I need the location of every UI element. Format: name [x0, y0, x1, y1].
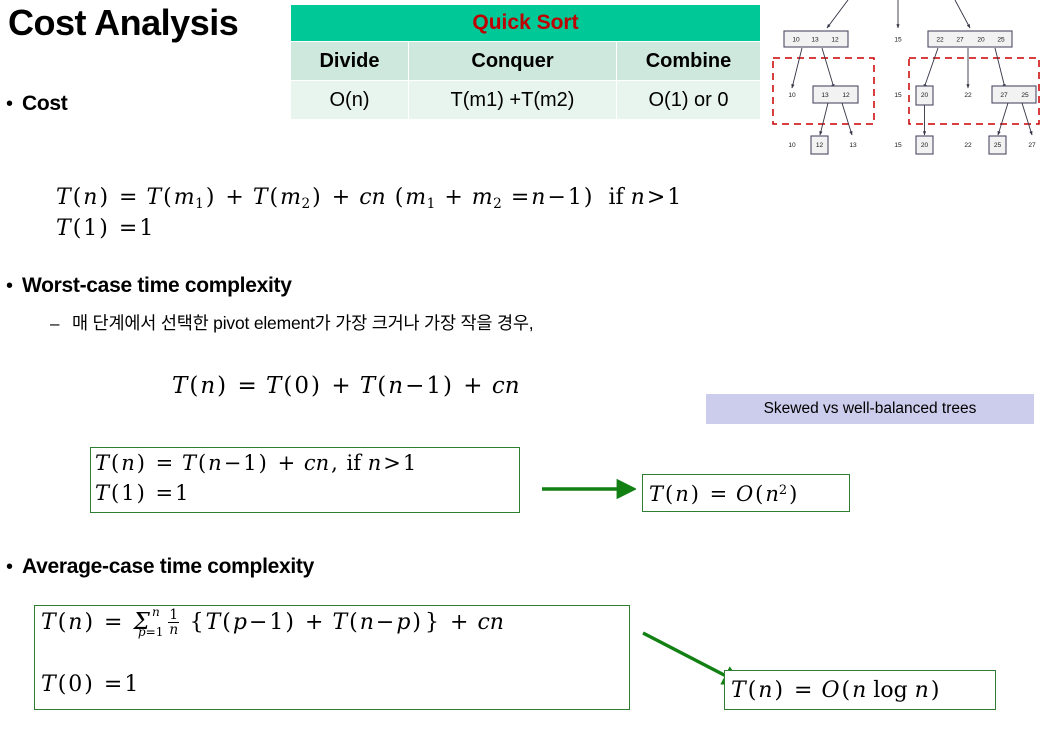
- table-header-divide: Divide: [291, 42, 409, 81]
- table-header-conquer: Conquer: [409, 42, 617, 81]
- tree-edges-root: [827, 0, 970, 28]
- tree-leaf-level2-mid: 15: [894, 92, 902, 99]
- summation-symbol: Σ n p=1: [131, 609, 159, 635]
- tree-leaf-l3-22: 22: [964, 142, 972, 149]
- tree-leaf-level2-left: 10: [788, 92, 796, 99]
- equation-box-worst-result: T(n) = O(n2): [642, 474, 850, 512]
- svg-text:27: 27: [956, 36, 964, 43]
- table-row-title: Quick Sort: [291, 5, 761, 42]
- equation-average-system-line2: T(0) =1: [41, 672, 623, 697]
- table-row-headers: Divide Conquer Combine: [291, 42, 761, 81]
- svg-text:13: 13: [821, 92, 829, 99]
- table-title-cell: Quick Sort: [291, 5, 761, 42]
- tree-node-l3-12: 12: [811, 136, 828, 154]
- quicksort-summary-table: Quick Sort Divide Conquer Combine O(n) T…: [290, 4, 761, 120]
- table-header-combine: Combine: [617, 42, 761, 81]
- equation-worst-system-line1: T(n) = T(n−1) + cn, if n>1: [95, 449, 515, 479]
- equation-box-average-system: T(n) = Σ n p=1 1 n {T(p−1) + T(n−p)} + c…: [34, 605, 630, 710]
- bullet-cost-label: Cost: [22, 92, 67, 116]
- quicksort-recursion-tree-diagram: 10 13 12 15 22 27 20 25 10 13 12 15 20 2…: [770, 0, 1042, 170]
- bullet-dot-icon: •: [6, 557, 22, 577]
- svg-text:20: 20: [977, 36, 985, 43]
- svg-text:25: 25: [994, 142, 1002, 149]
- equation-box-average-result: T(n) = O(n log n): [724, 670, 996, 710]
- tree-leaf-l3-27: 27: [1028, 142, 1036, 149]
- table-row: O(n) T(m1) +T(m2) O(1) or 0: [291, 81, 761, 120]
- equation-cost-recurrence: T(n) = T(m1) + T(m2) + cn (m1 + m2 =n−1)…: [56, 183, 681, 244]
- tree-leaf-l3-15: 15: [894, 142, 902, 149]
- svg-text:13: 13: [811, 36, 819, 43]
- equation-worst-recurrence: T(n) = T(0) + T(n−1) + cn: [172, 373, 520, 399]
- subbullet-pivot-label: 매 단계에서 선택한 pivot element가 가장 크거나 가장 작을 경…: [72, 310, 533, 335]
- fraction-one-over-n: 1 n: [167, 608, 181, 638]
- tree-edges-level2: [820, 103, 1032, 135]
- tree-edges-level1-right: [924, 48, 1005, 88]
- bullet-dot-icon: •: [6, 94, 22, 114]
- svg-text:27: 27: [1000, 92, 1008, 99]
- tree-leaf-l3-13: 13: [849, 142, 857, 149]
- svg-text:12: 12: [831, 36, 839, 43]
- tree-leaf-level1-mid: 15: [894, 36, 902, 43]
- svg-text:12: 12: [816, 142, 824, 149]
- equation-cost-line1: T(n) = T(m1) + T(m2) + cn (m1 + m2 =n−1)…: [56, 183, 681, 214]
- tree-node-level2-left: 13 12: [813, 86, 858, 103]
- tree-edges-level1-left: [792, 48, 834, 88]
- equation-average-result: T(n) = O(n log n): [731, 678, 941, 703]
- equation-worst-result: T(n) = O(n2): [649, 482, 799, 506]
- equation-average-system-line1: T(n) = Σ n p=1 1 n {T(p−1) + T(n−p)} + c…: [41, 608, 623, 638]
- dash-icon: –: [50, 314, 72, 334]
- svg-text:22: 22: [936, 36, 944, 43]
- callout-skewed-vs-balanced: Skewed vs well-balanced trees: [706, 394, 1034, 424]
- page-title: Cost Analysis: [8, 2, 238, 44]
- bullet-dot-icon: •: [6, 276, 22, 296]
- tree-node-level2-right-second: 27 25: [992, 86, 1036, 103]
- svg-text:10: 10: [792, 36, 800, 43]
- svg-text:20: 20: [921, 92, 929, 99]
- subbullet-pivot-note: – 매 단계에서 선택한 pivot element가 가장 크거나 가장 작을…: [50, 310, 533, 335]
- table-cell-conquer: T(m1) +T(m2): [409, 81, 617, 120]
- tree-node-l3-25: 25: [989, 136, 1006, 154]
- table-cell-divide: O(n): [291, 81, 409, 120]
- equation-box-worst-system: T(n) = T(n−1) + cn, if n>1 T(1) =1: [90, 447, 520, 513]
- tree-node-level1-left: 10 13 12: [784, 31, 848, 47]
- svg-text:12: 12: [842, 92, 850, 99]
- table-cell-combine: O(1) or 0: [617, 81, 761, 120]
- equation-worst-system-line2: T(1) =1: [95, 479, 515, 509]
- tree-node-level2-right-first: 20: [916, 86, 933, 105]
- tree-leaf-level2-right: 22: [964, 92, 972, 99]
- bullet-average-case: • Average-case time complexity: [6, 555, 314, 579]
- tree-leaf-l3-10: 10: [788, 142, 796, 149]
- bullet-average-case-label: Average-case time complexity: [22, 555, 314, 579]
- tree-node-level1-right: 22 27 20 25: [928, 31, 1012, 47]
- svg-text:20: 20: [921, 142, 929, 149]
- equation-cost-line2: T(1) =1: [56, 214, 681, 244]
- bullet-worst-case-label: Worst-case time complexity: [22, 274, 292, 298]
- tree-node-l3-20: 20: [916, 136, 933, 154]
- arrow-right-icon: [540, 478, 636, 500]
- bullet-cost: • Cost: [6, 92, 67, 116]
- svg-text:25: 25: [1021, 92, 1029, 99]
- bullet-worst-case: • Worst-case time complexity: [6, 274, 292, 298]
- svg-text:25: 25: [997, 36, 1005, 43]
